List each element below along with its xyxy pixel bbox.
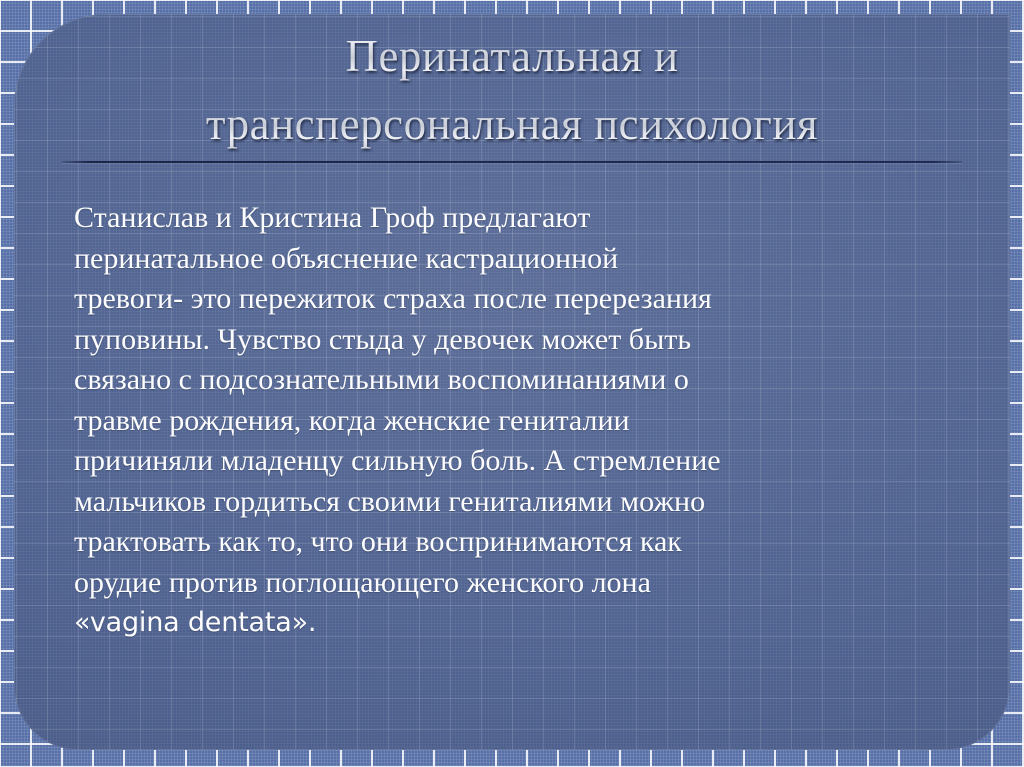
body-line-latin-term: «vagina dentata».	[74, 603, 974, 644]
body-line: травме рождения, когда женские гениталии	[74, 401, 974, 442]
slide-title: Перинатальная и трансперсональная психол…	[14, 22, 1010, 158]
body-line: перинатальное объяснение кастрационной	[74, 239, 974, 280]
slide-content-panel: Перинатальная и трансперсональная психол…	[14, 14, 1010, 750]
slide-title-line-2: трансперсональная психология	[14, 90, 1010, 158]
body-line: причиняли младенцу сильную боль. А стрем…	[74, 441, 974, 482]
slide-title-line-1: Перинатальная и	[14, 22, 1010, 90]
title-divider-rule	[62, 161, 962, 163]
body-line: тревоги- это пережиток страха после пере…	[74, 279, 974, 320]
body-line: Станислав и Кристина Гроф предлагают	[74, 198, 974, 239]
body-line: мальчиков гордиться своими гениталиями м…	[74, 482, 974, 523]
body-line: орудие против поглощающего женского лона	[74, 563, 974, 604]
body-line: пуповины. Чувство стыда у девочек может …	[74, 320, 974, 361]
body-line: связано с подсознательными воспоминаниям…	[74, 360, 974, 401]
slide-canvas: Перинатальная и трансперсональная психол…	[0, 0, 1024, 767]
body-line: трактовать как то, что они воспринимаютс…	[74, 522, 974, 563]
slide-body-text: Станислав и Кристина Гроф предлагают пер…	[74, 198, 974, 644]
